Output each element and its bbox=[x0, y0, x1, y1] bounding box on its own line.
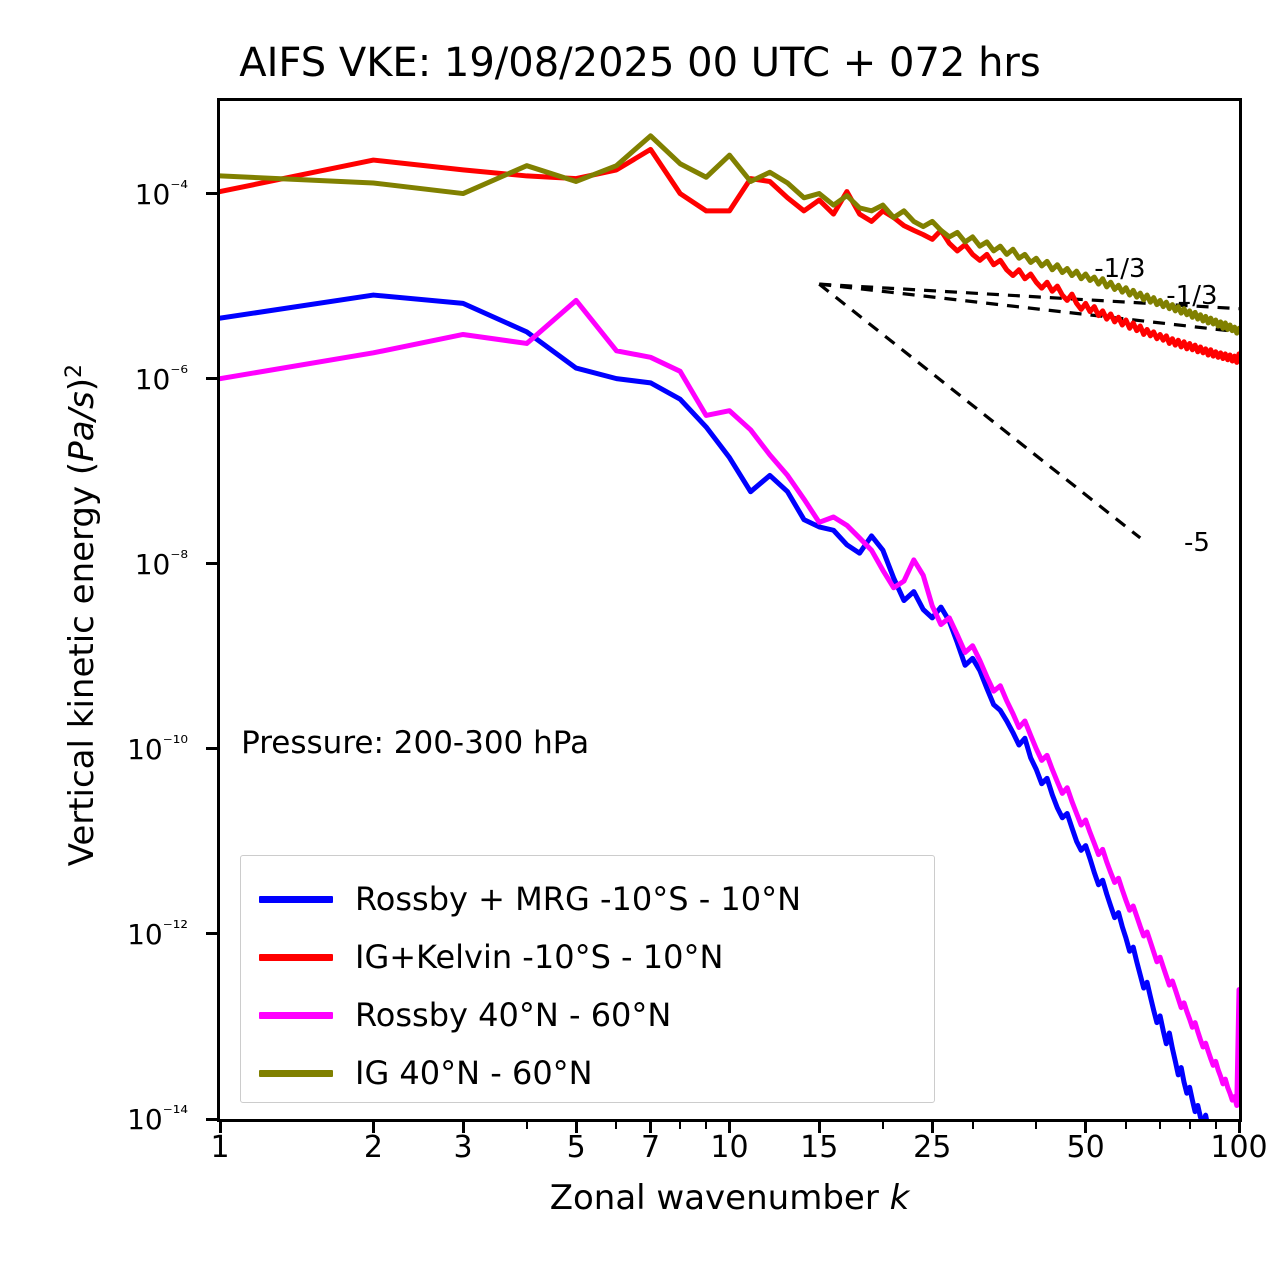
legend-label: IG+Kelvin -10°S - 10°N bbox=[355, 938, 723, 976]
slope-label-upper: -1/3 bbox=[1094, 254, 1145, 284]
legend-swatch-ig-nh bbox=[259, 1070, 333, 1077]
legend: Rossby + MRG -10°S - 10°N IG+Kelvin -10°… bbox=[240, 855, 935, 1103]
x-tick-label: 25 bbox=[913, 1130, 951, 1165]
x-minor-tick bbox=[729, 1122, 731, 1129]
chart-title: AIFS VKE: 19/08/2025 00 UTC + 072 hrs bbox=[0, 40, 1280, 86]
x-minor-tick bbox=[615, 1122, 617, 1129]
x-minor-tick bbox=[526, 1122, 528, 1129]
y-tick-mark bbox=[206, 192, 217, 195]
y-tick-label: 10⁻¹⁴ bbox=[127, 1102, 188, 1136]
legend-label: Rossby + MRG -10°S - 10°N bbox=[355, 880, 801, 918]
y-tick-label: 10⁻⁸ bbox=[135, 547, 188, 581]
y-tick-mark bbox=[206, 1118, 217, 1121]
x-minor-tick bbox=[1215, 1122, 1217, 1129]
x-tick-label: 2 bbox=[364, 1130, 383, 1165]
x-minor-tick bbox=[372, 1122, 374, 1129]
x-tick-label: 50 bbox=[1067, 1130, 1105, 1165]
legend-item[interactable]: Rossby + MRG -10°S - 10°N bbox=[241, 870, 934, 928]
legend-swatch-rossby-mrg bbox=[259, 896, 333, 903]
legend-item[interactable]: IG+Kelvin -10°S - 10°N bbox=[241, 928, 934, 986]
y-tick-mark bbox=[206, 377, 217, 380]
x-axis-label: Zonal wavenumber k bbox=[217, 1178, 1242, 1218]
y-tick-label: 10⁻¹² bbox=[127, 917, 188, 951]
legend-label: IG 40°N - 60°N bbox=[355, 1054, 593, 1092]
y-tick-mark bbox=[206, 932, 217, 935]
x-minor-tick bbox=[1159, 1122, 1161, 1129]
x-tick-label: 10 bbox=[710, 1130, 748, 1165]
x-minor-tick bbox=[705, 1122, 707, 1129]
ref-line-minus-five bbox=[819, 284, 1140, 538]
legend-swatch-rossby-nh bbox=[259, 1012, 333, 1019]
x-tick-mark bbox=[931, 1122, 934, 1133]
chart-figure: AIFS VKE: 19/08/2025 00 UTC + 072 hrs Ve… bbox=[0, 0, 1280, 1288]
y-tick-mark bbox=[206, 747, 217, 750]
x-minor-tick bbox=[1125, 1122, 1127, 1129]
x-minor-tick bbox=[219, 1122, 221, 1129]
slope-label-minus5: -5 bbox=[1184, 528, 1210, 558]
x-minor-tick bbox=[679, 1122, 681, 1129]
x-tick-label: 15 bbox=[800, 1130, 838, 1165]
y-tick-label: 10⁻⁴ bbox=[135, 176, 188, 210]
x-tick-label: 7 bbox=[641, 1130, 660, 1165]
y-tick-mark bbox=[206, 562, 217, 565]
x-minor-tick bbox=[882, 1122, 884, 1129]
x-tick-label: 5 bbox=[567, 1130, 586, 1165]
x-minor-tick bbox=[650, 1122, 652, 1129]
legend-item[interactable]: IG 40°N - 60°N bbox=[241, 1044, 934, 1102]
x-tick-mark bbox=[818, 1122, 821, 1133]
x-tick-label: 1 bbox=[210, 1130, 229, 1165]
x-minor-tick bbox=[1035, 1122, 1037, 1129]
legend-swatch-ig-kelvin bbox=[259, 954, 333, 961]
y-tick-label: 10⁻⁶ bbox=[135, 361, 188, 395]
x-tick-label: 100 bbox=[1210, 1130, 1267, 1165]
x-tick-mark bbox=[1238, 1122, 1241, 1133]
y-axis-label: Vertical kinetic energy (Pa/s)2 bbox=[62, 235, 102, 995]
x-minor-tick bbox=[1085, 1122, 1087, 1129]
pressure-annotation: Pressure: 200-300 hPa bbox=[241, 725, 589, 761]
slope-label-lower: -1/3 bbox=[1166, 281, 1217, 311]
x-minor-tick bbox=[462, 1122, 464, 1129]
x-minor-tick bbox=[1189, 1122, 1191, 1129]
legend-label: Rossby 40°N - 60°N bbox=[355, 996, 671, 1034]
legend-item[interactable]: Rossby 40°N - 60°N bbox=[241, 986, 934, 1044]
y-tick-label: 10⁻¹⁰ bbox=[127, 732, 188, 766]
x-tick-label: 3 bbox=[454, 1130, 473, 1165]
x-minor-tick bbox=[575, 1122, 577, 1129]
x-minor-tick bbox=[972, 1122, 974, 1129]
